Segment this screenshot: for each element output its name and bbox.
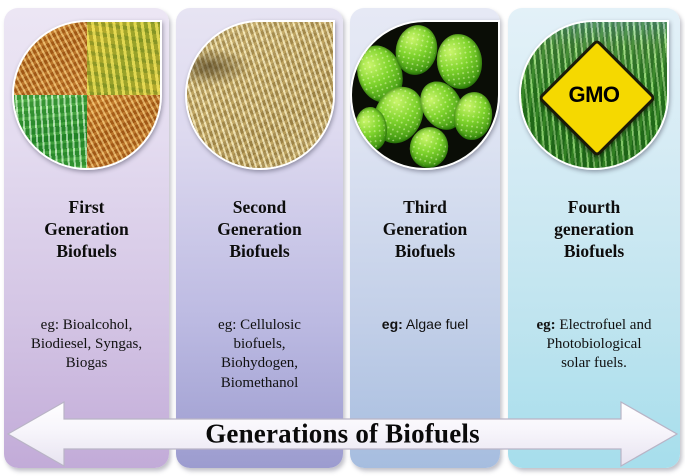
- collage-grid: [14, 22, 160, 168]
- panel-title-3: Third Generation Biofuels: [350, 196, 500, 262]
- corn-quadrant-image: [87, 22, 160, 95]
- algae-cells-image: [350, 20, 500, 170]
- panel-title-2: Second Generation Biofuels: [176, 196, 343, 262]
- straw-biomass-image: [185, 20, 335, 170]
- panel-image-wrap-4: GMO: [519, 20, 669, 170]
- eg-line-4: eg: Electrofuel and: [515, 316, 673, 335]
- eg-value-4: Electrofuel and: [559, 317, 651, 333]
- wheat-quadrant-image: [14, 22, 87, 95]
- straw-texture: [187, 22, 333, 168]
- eg-line-3: eg: Algae fuel: [357, 316, 493, 334]
- panel-title-1: First Generation Biofuels: [4, 196, 169, 262]
- eg-label-3: eg:: [382, 316, 403, 332]
- biofuel-generations-diagram: First Generation Biofuels eg: Bioalcohol…: [0, 0, 685, 476]
- panel-description-1: eg: Bioalcohol, Biodiesel, Syngas, Bioga…: [4, 316, 169, 374]
- generations-arrow-banner: Generations of Biofuels: [6, 400, 679, 468]
- eg-label-4: eg:: [537, 317, 556, 333]
- gmo-sign-label: GMO: [568, 82, 619, 108]
- panel-description-3: eg: Algae fuel: [350, 316, 500, 334]
- panel-description-4: eg: Electrofuel and Photobiological sola…: [508, 316, 680, 374]
- wheat-quadrant-image-2: [87, 95, 160, 168]
- panel-third-generation[interactable]: Third Generation Biofuels eg: Algae fuel: [350, 8, 500, 468]
- panel-first-generation[interactable]: First Generation Biofuels eg: Bioalcohol…: [4, 8, 169, 468]
- panel-fourth-generation[interactable]: GMO Fourth generation Biofuels eg: Elect…: [508, 8, 680, 468]
- panel-title-4: Fourth generation Biofuels: [508, 196, 680, 262]
- banner-caption: Generations of Biofuels: [6, 419, 679, 450]
- gmo-crop-image: GMO: [519, 20, 669, 170]
- eg-value-3: Algae fuel: [406, 316, 468, 332]
- panel-image-wrap-2: [185, 20, 335, 170]
- panel-image-wrap-1: [12, 20, 162, 170]
- sugarcane-quadrant-image: [14, 95, 87, 168]
- algae-background: [352, 22, 498, 168]
- panel-image-wrap-3: [350, 20, 500, 170]
- food-crops-collage-image: [12, 20, 162, 170]
- panel-second-generation[interactable]: Second Generation Biofuels eg: Cellulosi…: [176, 8, 343, 468]
- panel-description-2: eg: Cellulosic biofuels, Biohydogen, Bio…: [176, 316, 343, 393]
